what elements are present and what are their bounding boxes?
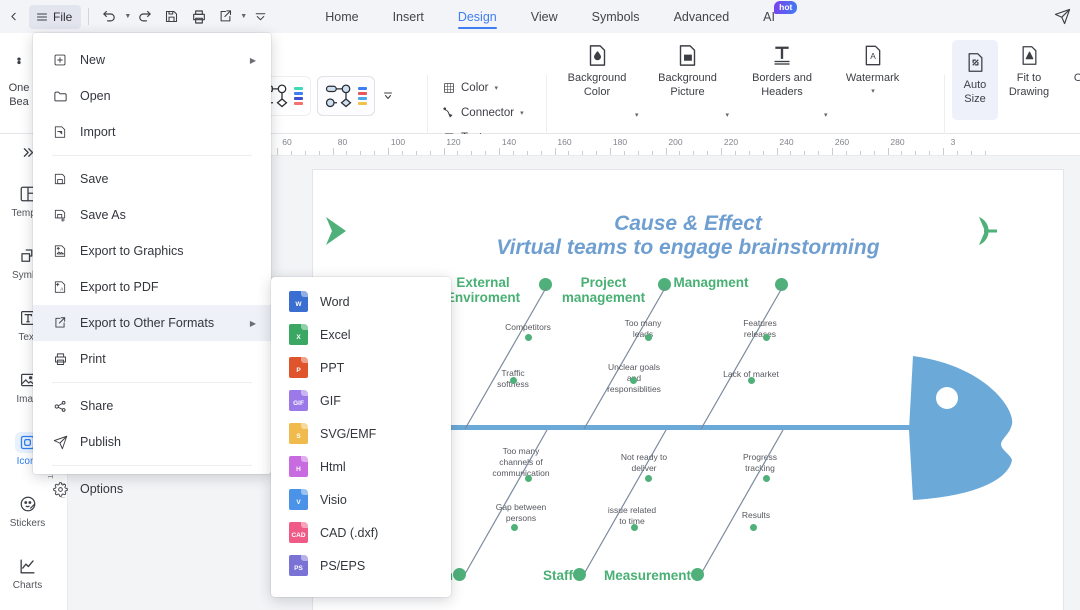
ps-file-icon: PS [289,555,308,576]
plus-square-icon [52,53,68,67]
submenu-label: Word [320,295,350,309]
file-menu-dropdown[interactable]: New ▶ Open Import Save Save As Export to… [33,33,271,474]
bone-anchor-dot[interactable] [691,568,704,581]
diagram-title-line1[interactable]: Cause & Effect [313,212,1063,236]
background-picture-caret-icon[interactable]: ▾ [726,111,730,119]
menu-item-share[interactable]: Share [33,388,271,424]
menu-item-options[interactable]: Options [33,471,271,507]
back-button[interactable] [0,4,27,30]
submenu-label: PS/EPS [320,559,365,573]
ruler-minor-tick [319,151,320,155]
ruler-tick [555,148,556,155]
topbar-right-actions [1049,0,1076,33]
theme-swatches [358,87,367,106]
menu-label: Save As [80,208,126,222]
menu-divider [52,382,252,383]
ruler-minor-tick [430,151,431,155]
tab-symbols[interactable]: Symbols [575,0,657,33]
tab-label: Advanced [674,10,730,24]
menu-divider [52,465,252,466]
hamburger-icon [36,11,48,23]
menu-label: Publish [80,435,121,449]
bone-head-staff[interactable]: Staff [493,568,573,583]
bone-line [699,286,799,431]
ruler-minor-tick [596,151,597,155]
ruler-minor-tick [652,151,653,155]
submenu-item-excel[interactable]: X Excel [271,318,451,351]
customize-quick-access-button[interactable] [247,4,274,30]
share-nodes-icon [52,399,68,414]
cause-dot[interactable] [763,334,770,341]
background-color-icon [587,42,608,68]
floppy-disk-plus-icon [52,208,68,222]
ruler-label: 220 [724,137,738,147]
title-bar: File ▼ ▼ Home Insert Design View Symbols… [0,0,1080,33]
file-menu-label: File [53,10,72,24]
menu-item-export-graphics[interactable]: Export to Graphics [33,233,271,269]
chevron-right-icon: ▶ [250,56,256,65]
ruler-minor-tick [901,151,902,155]
color-grid-icon [441,82,456,94]
bone-line [463,286,563,431]
import-icon [52,125,68,139]
floppy-disk-icon [52,172,68,186]
ribbon-tab-bar: Home Insert Design View Symbols Advanced… [308,0,792,33]
ruler-minor-tick [749,151,750,155]
cause-dot[interactable] [630,377,637,384]
save-button[interactable] [158,4,185,30]
cause-dot[interactable] [748,377,755,384]
tab-label: Insert [393,10,424,24]
ruler-minor-tick [763,151,764,155]
color-button[interactable]: Color ▾ [441,77,524,98]
beautify-wand-icon [9,52,29,78]
borders-headers-icon [772,42,792,68]
ruler-minor-tick [402,151,403,155]
bone-line [582,428,682,576]
ruler-minor-tick [374,151,375,155]
bg-picture-line2: Picture [670,85,704,99]
menu-label: Export to Other Formats [80,316,214,330]
submenu-item-html[interactable]: H Html [271,450,451,483]
export-graphics-icon [52,244,68,258]
ruler-minor-tick [679,151,680,155]
ruler-label: 240 [779,137,793,147]
connector-icon [441,106,456,119]
excel-file-icon: X [289,324,308,345]
cad-file-icon: CAD [289,522,308,543]
ribbon-group-page: Auto Size Fit to Drawing Or [952,33,1080,120]
print-button[interactable] [185,4,212,30]
chevron-right-icon: ▶ [250,319,256,328]
ppt-file-icon: P [289,357,308,378]
hot-badge: hot [774,1,797,14]
background-picture-button[interactable]: Background Picture [651,33,725,99]
menu-label: Export to Graphics [80,244,184,258]
ruler-minor-tick [874,151,875,155]
ruler-minor-tick [638,151,639,155]
ruler-tick [277,148,278,155]
ruler-minor-tick [818,151,819,155]
more-themes-icon[interactable] [382,90,394,102]
gif-file-icon: GIF [289,390,308,411]
ruler-tick [721,148,722,155]
publish-send-icon[interactable] [1049,4,1076,30]
menu-item-save-as[interactable]: Save As [33,197,271,233]
ruler-minor-tick [957,151,958,155]
connector-caret-icon[interactable]: ▾ [520,109,524,117]
menu-item-export-other-formats[interactable]: Export to Other Formats ▶ [33,305,271,341]
submenu-item-cad[interactable]: CAD CAD (.dxf) [271,516,451,549]
cause-dot[interactable] [645,334,652,341]
borders-headers-caret-icon[interactable]: ▾ [824,111,828,119]
ruler-label: 180 [613,137,627,147]
submenu-item-word[interactable]: W Word [271,285,451,318]
ruler-minor-tick [485,151,486,155]
bg-picture-line1: Background [658,71,717,85]
auto-size-line2: Size [964,92,985,106]
green-arrow-left-icon [322,214,350,248]
ruler-minor-tick [915,151,916,155]
bone-head-measurement[interactable]: Measurement [571,568,691,583]
ruler-minor-tick [582,151,583,155]
tab-home[interactable]: Home [308,0,375,33]
ruler-minor-tick [735,151,736,155]
ruler-label: 280 [890,137,904,147]
svg-text:A: A [60,287,64,292]
sidebar-item-charts[interactable]: Charts [0,542,55,604]
connector-button[interactable]: Connector ▾ [441,102,524,123]
gear-icon [52,482,68,497]
ruler-minor-tick [624,151,625,155]
menu-label: Export to PDF [80,280,159,294]
html-file-icon: H [289,456,308,477]
undo-button[interactable] [96,4,123,30]
fit-to-drawing-button[interactable]: Fit to Drawing [998,33,1060,120]
ruler-tick [444,148,445,155]
menu-label: Options [80,482,123,496]
theme-presets [254,77,394,115]
export-share-button[interactable] [212,4,239,30]
submenu-item-ps-eps[interactable]: PS PS/EPS [271,549,451,582]
submenu-item-visio[interactable]: V Visio [271,483,451,516]
tab-design[interactable]: Design [441,0,514,33]
fit-line2: Drawing [1009,85,1049,99]
submenu-label: SVG/EMF [320,427,376,441]
tab-label: Home [325,10,358,24]
svg-file-icon: S [289,423,308,444]
submenu-item-gif[interactable]: GIF GIF [271,384,451,417]
ruler-minor-tick [457,151,458,155]
ruler-tick [888,148,889,155]
auto-size-line1: Auto [964,78,987,92]
export-dropdown-caret[interactable]: ▼ [240,13,247,20]
fit-line1: Fit to [1017,71,1041,85]
ruler-minor-tick [971,151,972,155]
word-file-icon: W [289,291,308,312]
ruler-minor-tick [568,151,569,155]
submenu-label: Html [320,460,346,474]
ruler-label: 260 [835,137,849,147]
menu-label: Import [80,125,115,139]
bone-anchor-dot[interactable] [453,568,466,581]
submenu-item-svg-emf[interactable]: S SVG/EMF [271,417,451,450]
ruler-label: 200 [668,137,682,147]
menu-item-new[interactable]: New ▶ [33,42,271,78]
watermark-caret-icon[interactable]: ▾ [871,85,875,99]
ruler-tick [943,148,944,155]
publish-send-icon [52,435,68,450]
background-color-caret-icon[interactable]: ▾ [635,111,639,119]
cause-dot[interactable] [525,334,532,341]
ruler-label: 120 [446,137,460,147]
theme-swatches [294,87,303,106]
tab-ai[interactable]: AI hot [746,0,792,33]
diagram-title-line2[interactable]: Virtual teams to engage brainstorming [313,236,1063,260]
ruler-minor-tick [929,151,930,155]
export-pdf-icon: A [52,280,68,294]
theme-preset-2[interactable] [318,77,374,115]
background-picture-icon [677,42,698,68]
sidebar-label: Stickers [10,518,46,529]
quick-access-toolbar: File ▼ ▼ [0,0,274,33]
visio-file-icon: V [289,489,308,510]
export-formats-submenu[interactable]: W Word X Excel P PPT GIF GIF S SVG/EMF H… [271,277,451,597]
menu-item-print[interactable]: Print [33,341,271,377]
ruler-tick [610,148,611,155]
sidebar-label: Charts [13,580,42,591]
beautify-label-line2: Bea [9,95,29,109]
tab-label: Symbols [592,10,640,24]
ruler-minor-tick [305,151,306,155]
ruler-minor-tick [471,151,472,155]
ruler-tick [832,148,833,155]
green-arrow-right-icon [973,214,1003,248]
menu-item-export-pdf[interactable]: A Export to PDF [33,269,271,305]
auto-size-icon [966,49,985,75]
watermark-button[interactable]: A Watermark ▾ [836,33,910,99]
bone-head-line1: Staff [493,568,573,583]
chart-line-icon [18,555,37,577]
watermark-label: Watermark [846,71,899,85]
menu-label: Open [80,89,111,103]
ruler-label: 140 [502,137,516,147]
bg-color-line2: Color [584,85,610,99]
cause-label[interactable]: Too many leads [600,318,686,340]
menu-item-open[interactable]: Open [33,78,271,114]
ruler-tick [333,148,334,155]
color-caret-icon[interactable]: ▾ [494,84,498,92]
tab-label: View [531,10,558,24]
tab-label: Design [458,10,497,24]
folder-icon [52,89,68,104]
borders-line2: Headers [761,85,803,99]
watermark-icon: A [863,42,883,68]
ruler-label: 160 [557,137,571,147]
menu-divider [52,155,252,156]
ruler-minor-tick [527,151,528,155]
bone-head-line1: Measurement [571,568,691,583]
toolbar-divider [88,8,89,25]
connector-label: Connector [461,107,514,119]
background-color-button[interactable]: Background Color [560,33,634,99]
menu-label: New [80,53,105,67]
ruler-tick [666,148,667,155]
redo-button[interactable] [131,4,158,30]
tab-view[interactable]: View [514,0,575,33]
bone-line [463,428,563,576]
auto-size-button[interactable]: Auto Size [952,40,998,120]
export-other-icon [52,316,68,330]
ruler-minor-tick [790,151,791,155]
beautify-label-line1: One [9,81,30,95]
fish-head[interactable] [869,352,1023,504]
ruler-minor-tick [693,151,694,155]
ruler-minor-tick [291,151,292,155]
cause-label[interactable]: Competitors [483,322,573,333]
bone-line [699,428,799,576]
menu-item-save[interactable]: Save [33,161,271,197]
orientation-label: Or [1074,71,1080,85]
ruler-tick [777,148,778,155]
cause-dot[interactable] [510,377,517,384]
ruler-minor-tick [541,151,542,155]
orientation-button[interactable]: Or [1060,33,1080,120]
tab-advanced[interactable]: Advanced [657,0,747,33]
ruler-minor-tick [360,151,361,155]
svg-text:A: A [870,50,876,60]
cause-label[interactable]: Features releases [717,318,803,340]
printer-icon [52,352,68,367]
borders-headers-button[interactable]: Borders and Headers [741,33,823,99]
menu-label: Print [80,352,106,366]
ruler-minor-tick [346,151,347,155]
submenu-label: PPT [320,361,344,375]
submenu-label: GIF [320,394,341,408]
submenu-label: Visio [320,493,347,507]
ruler-minor-tick [416,151,417,155]
undo-dropdown-caret[interactable]: ▼ [124,13,131,20]
menu-item-publish[interactable]: Publish [33,424,271,460]
ruler-label: 100 [391,137,405,147]
bg-color-line1: Background [568,71,627,85]
submenu-item-ppt[interactable]: P PPT [271,351,451,384]
borders-line1: Borders and [752,71,812,85]
fit-to-drawing-icon [1020,42,1039,68]
menu-label: Save [80,172,109,186]
menu-item-import[interactable]: Import [33,114,271,150]
submenu-label: Excel [320,328,351,342]
bone-line [582,286,682,431]
ruler-label: 3 [951,137,956,147]
ruler-minor-tick [513,151,514,155]
file-menu-button[interactable]: File [29,5,81,29]
submenu-label: CAD (.dxf) [320,526,378,540]
ruler-tick [499,148,500,155]
ruler-minor-tick [846,151,847,155]
ruler-label: 60 [282,137,291,147]
ribbon-group-background: Background Color ▾ Background Picture ▾ … [560,33,910,119]
ruler-label: 80 [338,137,347,147]
ruler-tick [388,148,389,155]
tab-insert[interactable]: Insert [376,0,441,33]
ruler-minor-tick [860,151,861,155]
color-label: Color [461,82,488,94]
ruler-minor-tick [707,151,708,155]
ruler-minor-tick [804,151,805,155]
ruler-minor-tick [985,151,986,155]
menu-label: Share [80,399,113,413]
